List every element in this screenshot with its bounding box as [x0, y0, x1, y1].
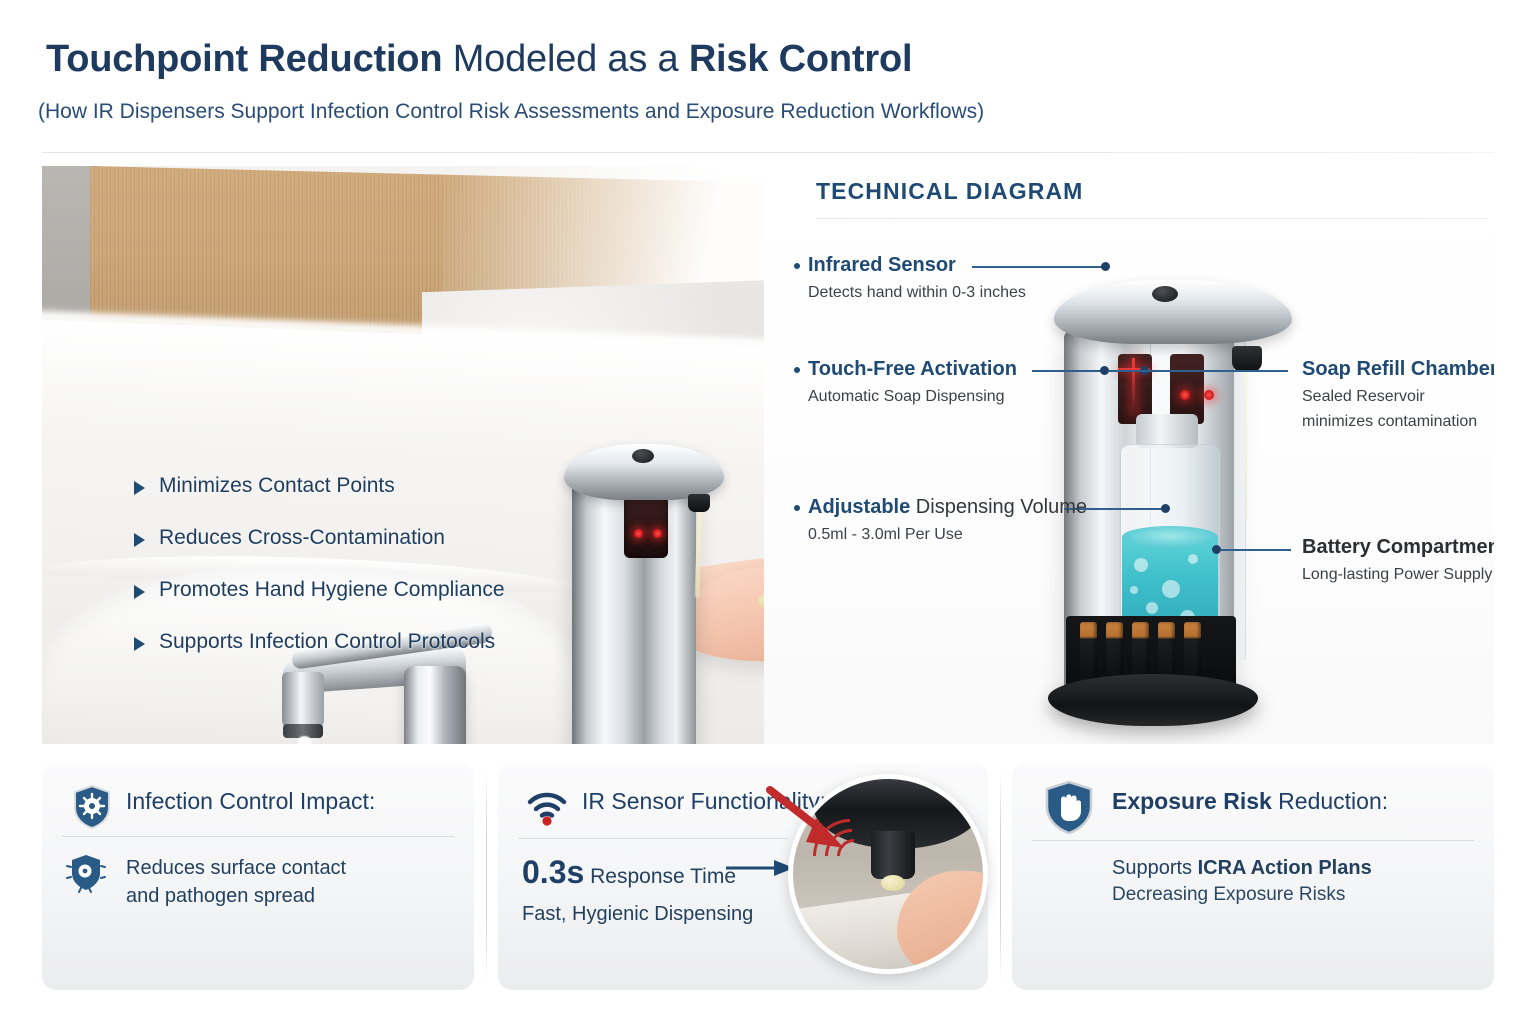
callout-bullet-icon — [794, 505, 800, 511]
ir-led-b-icon — [1204, 390, 1214, 400]
card-body-line-2: and pathogen spread — [126, 882, 346, 910]
card-body-bold: ICRA Action Plans — [1198, 857, 1372, 879]
feature-label: Promotes Hand Hygiene Compliance — [159, 578, 505, 602]
card-body: Reduces surface contact and pathogen spr… — [126, 854, 346, 911]
cutaway-nozzle — [1232, 346, 1262, 372]
faucet-spout — [282, 672, 324, 730]
ir-beam-vertical-icon — [1132, 358, 1135, 414]
faucet-body — [404, 666, 466, 744]
callout-title: Adjustable Dispensing Volume — [808, 496, 1087, 518]
shield-hand-icon — [1044, 780, 1094, 836]
card-body-line-2: Decreasing Exposure Risks — [1112, 882, 1372, 909]
bathroom-photo-scene: Minimizes Contact Points Reduces Cross-C… — [42, 166, 764, 744]
card-separator — [486, 770, 487, 982]
card-body-prefix: Supports — [1112, 857, 1198, 879]
triangle-bullet-icon — [134, 533, 145, 547]
cutaway-top-button[interactable] — [1152, 286, 1178, 302]
callout-touch-free-activation: Touch-Free Activation Automatic Soap Dis… — [794, 358, 1017, 408]
header-divider — [42, 152, 1494, 153]
leader-line-battery — [1221, 549, 1291, 551]
ir-signal-icon — [524, 786, 570, 826]
reservoir-neck — [1136, 414, 1198, 448]
callout-bullet-icon — [794, 263, 800, 269]
callout-title: Touch-Free Activation — [808, 358, 1017, 380]
callout-title-regular: Dispensing Volume — [910, 496, 1087, 518]
inset-hand — [897, 871, 988, 974]
soap-surface — [1122, 526, 1218, 548]
red-arrow-icon — [766, 784, 856, 856]
card-title-regular: Infection Control Impact: — [126, 788, 375, 814]
callout-subtitle: Long-lasting Power Supply — [1302, 563, 1494, 586]
card-divider — [518, 838, 788, 839]
callout-adjustable-volume: Adjustable Dispensing Volume 0.5ml - 3.0… — [794, 496, 1087, 546]
callout-title: Infrared Sensor — [808, 254, 1026, 276]
callout-subtitle-line2: minimizes contamination — [1302, 410, 1494, 433]
triangle-bullet-icon — [134, 481, 145, 495]
card-title: Exposure Risk Reduction: — [1112, 788, 1388, 815]
response-time-metric: 0.3s Response Time — [522, 854, 736, 891]
card-separator — [1000, 770, 1001, 982]
leader-line-soap-chamber — [1108, 370, 1288, 372]
soap-dispenser-photo — [554, 416, 734, 744]
leader-dot-adjustable — [1161, 504, 1170, 513]
sensor-led-right-icon — [653, 529, 662, 538]
callout-subtitle: Automatic Soap Dispensing — [808, 385, 1017, 408]
title-part-2: Modeled as a — [442, 38, 688, 80]
card-ir-sensor-functionality[interactable]: IR Sensor Functionality: 0.3s Response T… — [498, 762, 988, 990]
summary-cards-row: Infection Control Impact: Reduces surfac… — [42, 762, 1494, 994]
inset-soap-drop — [881, 875, 905, 891]
card-divider — [62, 836, 454, 837]
cutaway-soap-stream — [1244, 370, 1248, 520]
callout-soap-refill-chamber: Soap Refill Chamber Sealed Reservoir min… — [1302, 358, 1494, 433]
card-body-line-1: Reduces surface contact — [126, 854, 346, 882]
ir-led-a-icon — [1180, 390, 1190, 400]
dispenser-top-button[interactable] — [632, 449, 654, 463]
sensor-window — [624, 496, 668, 558]
callout-subtitle: Sealed Reservoir — [1302, 385, 1494, 408]
callout-title-bold: Battery Compartment — [1302, 536, 1494, 558]
card-title: Infection Control Impact: — [126, 788, 375, 815]
title-part-3: Risk Control — [689, 38, 913, 80]
card-body: Supports ICRA Action Plans Decreasing Ex… — [1112, 854, 1372, 909]
cutaway-base — [1048, 674, 1258, 726]
card-body-line-1: Fast, Hygienic Dispensing — [522, 900, 753, 928]
feature-label: Supports Infection Control Protocols — [159, 630, 495, 654]
triangle-bullet-icon — [134, 585, 145, 599]
dispenser-nozzle — [688, 494, 710, 512]
callout-title-bold: Infrared Sensor — [808, 254, 956, 276]
title-part-1: Touchpoint Reduction — [46, 38, 442, 80]
sensor-led-left-icon — [634, 529, 643, 538]
blue-arrow-icon — [726, 856, 796, 880]
main-illustration-panel: Minimizes Contact Points Reduces Cross-C… — [42, 166, 1494, 744]
card-body-line-1: Supports ICRA Action Plans — [1112, 854, 1372, 882]
dispenser-cutaway-diagram — [1032, 218, 1332, 738]
callout-title: Soap Refill Chamber — [1302, 358, 1494, 380]
card-title-regular: Reduction: — [1272, 788, 1388, 814]
callout-infrared-sensor: Infrared Sensor Detects hand within 0-3 … — [794, 254, 1026, 304]
callout-title-bold: Adjustable — [808, 496, 910, 518]
page-title: Touchpoint Reduction Modeled as a Risk C… — [46, 38, 912, 81]
technical-diagram-panel: TECHNICAL DIAGRAM — [764, 166, 1494, 744]
card-infection-control-impact[interactable]: Infection Control Impact: Reduces surfac… — [42, 762, 474, 990]
germ-shield-icon — [66, 852, 106, 894]
callout-battery-compartment: Battery Compartment Long-lasting Power S… — [1302, 536, 1494, 586]
leader-dot-infrared-sensor — [1101, 262, 1110, 271]
metric-value: 0.3s — [522, 854, 584, 890]
page-header: Touchpoint Reduction Modeled as a Risk C… — [0, 0, 1536, 152]
callout-bullet-icon — [794, 367, 800, 373]
triangle-bullet-icon — [134, 637, 145, 651]
technical-diagram-heading: TECHNICAL DIAGRAM — [816, 178, 1083, 205]
page-subtitle: (How IR Dispensers Support Infection Con… — [38, 100, 984, 124]
leader-dot-battery-origin — [1212, 545, 1221, 554]
feature-label: Minimizes Contact Points — [159, 474, 395, 498]
callout-subtitle: Detects hand within 0-3 inches — [808, 281, 1026, 304]
card-exposure-risk-reduction[interactable]: Exposure Risk Reduction: Supports ICRA A… — [1012, 762, 1494, 990]
feature-label: Reduces Cross-Contamination — [159, 526, 445, 550]
card-title-bold: Exposure Risk — [1112, 788, 1272, 814]
callout-subtitle: 0.5ml - 3.0ml Per Use — [808, 523, 1087, 546]
metric-label: Response Time — [584, 865, 736, 888]
callout-title-bold: Touch-Free Activation — [808, 358, 1017, 380]
callout-title: Battery Compartment — [1302, 536, 1494, 558]
card-divider — [1032, 840, 1474, 841]
callout-title-bold: Soap Refill Chamber — [1302, 358, 1494, 380]
shield-virus-icon — [72, 784, 112, 830]
